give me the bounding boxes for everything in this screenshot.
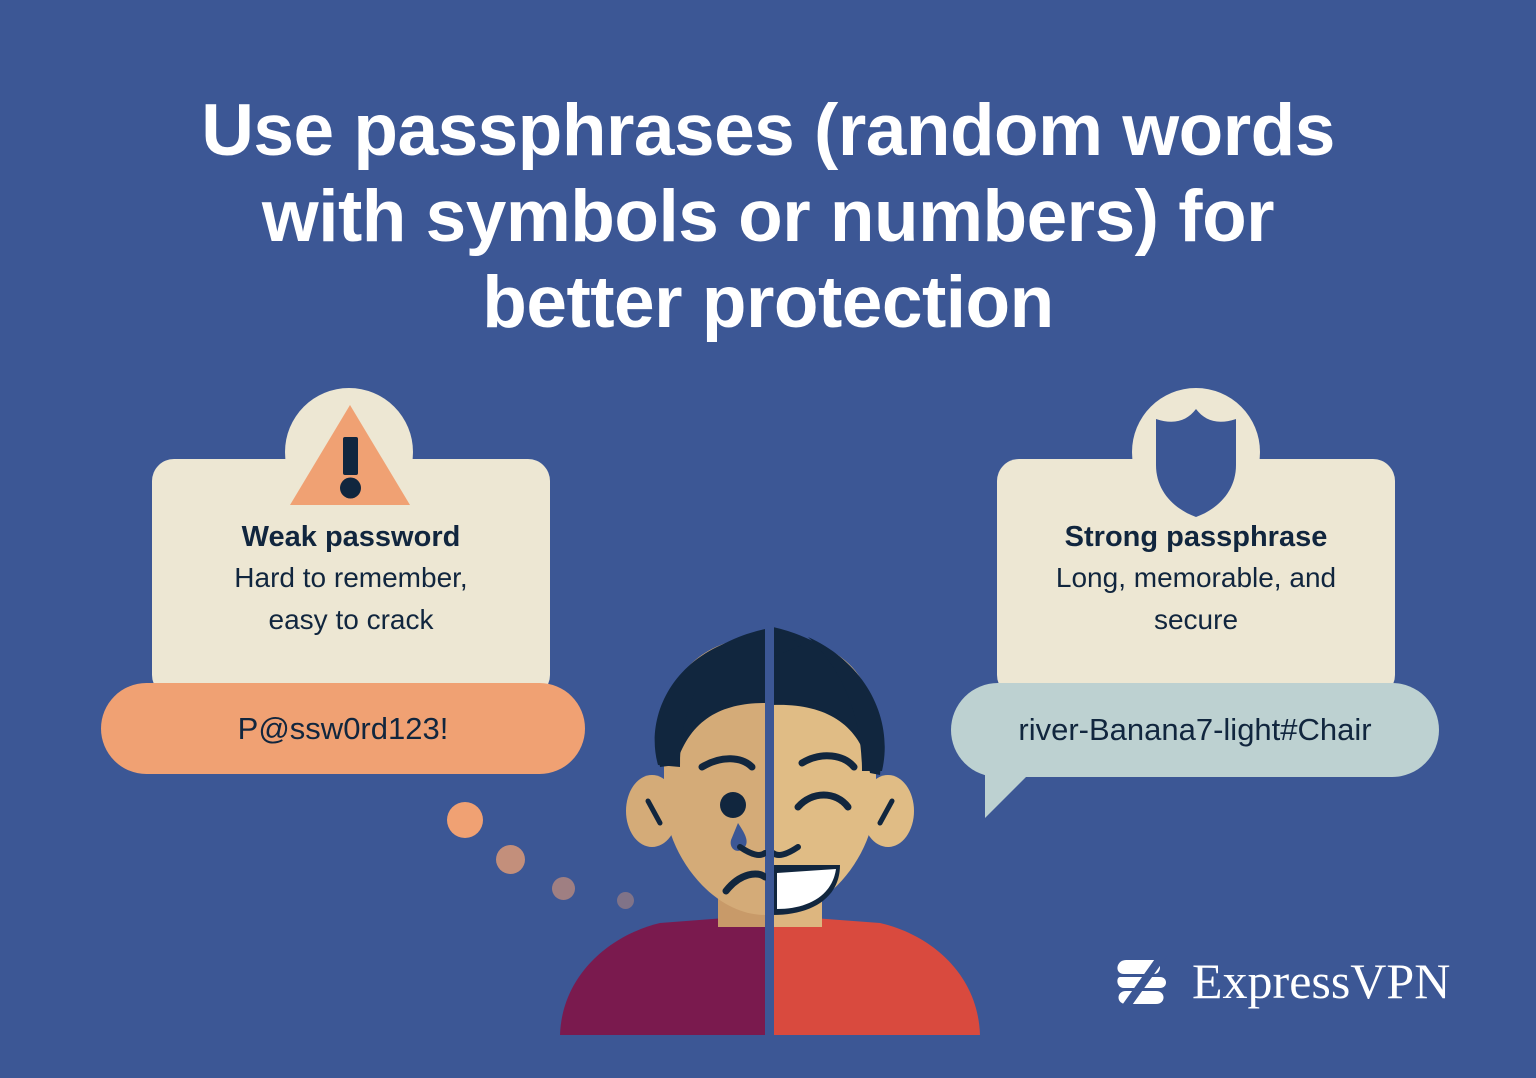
infographic-canvas: Use passphrases (random words with symbo… — [0, 0, 1536, 1078]
expressvpn-logo: ExpressVPN — [1110, 950, 1450, 1012]
thought-dot-1 — [447, 802, 483, 838]
strong-passphrase-value: river-Banana7-light#Chair — [1018, 712, 1371, 748]
character-sad-half — [560, 629, 765, 1035]
strong-card-subtitle: Long, memorable, and secure — [997, 557, 1395, 641]
shield-icon — [1132, 395, 1260, 517]
split-divider-line — [766, 623, 774, 1035]
weak-password-value: P@ssw0rd123! — [238, 711, 449, 747]
brand-name: ExpressVPN — [1192, 955, 1450, 1007]
split-face-character — [540, 615, 1000, 1035]
weak-card-subtitle: Hard to remember, easy to crack — [152, 557, 550, 641]
weak-card-title: Weak password — [152, 517, 550, 557]
warning-triangle-icon — [288, 403, 412, 507]
strong-card-title: Strong passphrase — [997, 517, 1395, 557]
character-happy-half — [773, 627, 980, 1035]
page-title: Use passphrases (random words with symbo… — [168, 88, 1368, 346]
expressvpn-e-logo-icon — [1110, 950, 1172, 1012]
thought-dot-2 — [496, 845, 525, 874]
weak-password-pill: P@ssw0rd123! — [101, 683, 585, 774]
